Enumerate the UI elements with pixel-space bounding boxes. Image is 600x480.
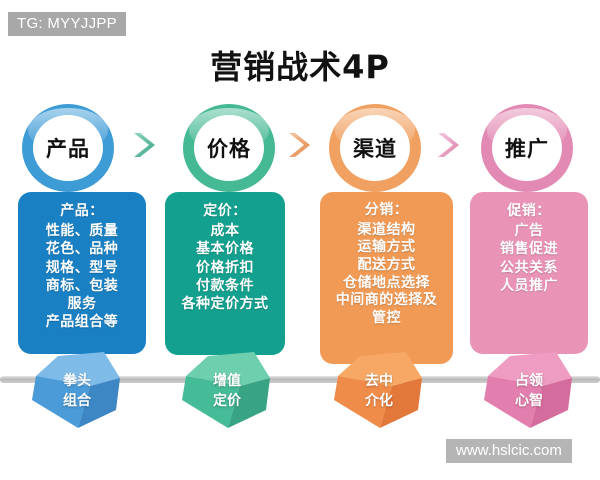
circle-label-place: 渠道	[353, 133, 397, 163]
gem-line: 拳头	[63, 371, 91, 391]
infographic-canvas: TG: MYYJJPP 营销战术4P 产品 价格 渠道 推广	[0, 0, 600, 480]
gem-line: 占领	[515, 371, 543, 391]
box-line: 公共关系	[470, 259, 588, 277]
box-line: 成本	[165, 222, 285, 240]
box-line: 商标、包装	[18, 277, 146, 295]
circle-label-price: 价格	[207, 133, 251, 163]
box-line: 各种定价方式	[165, 295, 285, 313]
gem-label-promotion: 占领 心智	[480, 352, 576, 430]
box-line: 渠道结构	[320, 222, 453, 240]
content-box-price: 定价： 成本 基本价格 价格折扣 付款条件 各种定价方式	[165, 192, 285, 355]
box-head-place: 分销：	[320, 202, 453, 220]
gem-promotion-strategy[interactable]: 占领 心智	[480, 352, 576, 430]
gem-place-strategy[interactable]: 去中 介化	[330, 352, 426, 430]
circle-product[interactable]: 产品	[22, 104, 114, 192]
gem-line: 心智	[515, 391, 543, 411]
chevron-right-icon	[432, 128, 466, 162]
box-line: 人员推广	[470, 277, 588, 295]
gem-price-strategy[interactable]: 增值 定价	[178, 352, 274, 430]
box-line: 仓储地点选择	[320, 275, 453, 293]
box-line: 配送方式	[320, 257, 453, 275]
circle-label-promotion: 推广	[505, 133, 549, 163]
gem-label-product: 拳头 组合	[28, 352, 124, 430]
gem-line: 去中	[365, 371, 393, 391]
gem-line: 定价	[213, 391, 241, 411]
watermark: www.hslcic.com	[446, 439, 572, 463]
box-head-price: 定价：	[165, 202, 285, 220]
circle-label-product: 产品	[46, 133, 90, 163]
box-line: 服务	[18, 295, 146, 313]
circle-place[interactable]: 渠道	[329, 104, 421, 192]
box-line: 性能、质量	[18, 222, 146, 240]
box-line: 产品组合等	[18, 313, 146, 331]
content-box-place: 分销： 渠道结构 运输方式 配送方式 仓储地点选择 中间商的选择及 管控	[320, 192, 453, 364]
chevron-right-icon	[128, 128, 162, 162]
page-title: 营销战术4P	[0, 42, 600, 88]
gem-label-price: 增值 定价	[178, 352, 274, 430]
box-line: 管控	[320, 310, 453, 328]
gem-line: 增值	[213, 371, 241, 391]
box-line: 价格折扣	[165, 259, 285, 277]
box-line: 基本价格	[165, 240, 285, 258]
box-line: 规格、型号	[18, 259, 146, 277]
box-line: 中间商的选择及	[320, 292, 453, 310]
box-line: 花色、品种	[18, 240, 146, 258]
box-head-product: 产品：	[18, 202, 146, 220]
box-head-promotion: 促销：	[470, 202, 588, 220]
tg-tag: TG: MYYJJPP	[8, 12, 126, 36]
content-box-promotion: 促销： 广告 销售促进 公共关系 人员推广	[470, 192, 588, 354]
content-box-product: 产品： 性能、质量 花色、品种 规格、型号 商标、包装 服务 产品组合等	[18, 192, 146, 354]
box-line: 付款条件	[165, 277, 285, 295]
gem-product-strategy[interactable]: 拳头 组合	[28, 352, 124, 430]
gem-line: 介化	[365, 391, 393, 411]
box-line: 运输方式	[320, 239, 453, 257]
box-line: 广告	[470, 222, 588, 240]
chevron-right-icon	[283, 128, 317, 162]
circle-promotion[interactable]: 推广	[481, 104, 573, 192]
box-line: 销售促进	[470, 240, 588, 258]
circle-price[interactable]: 价格	[183, 104, 275, 192]
gem-label-place: 去中 介化	[330, 352, 426, 430]
gem-line: 组合	[63, 391, 91, 411]
